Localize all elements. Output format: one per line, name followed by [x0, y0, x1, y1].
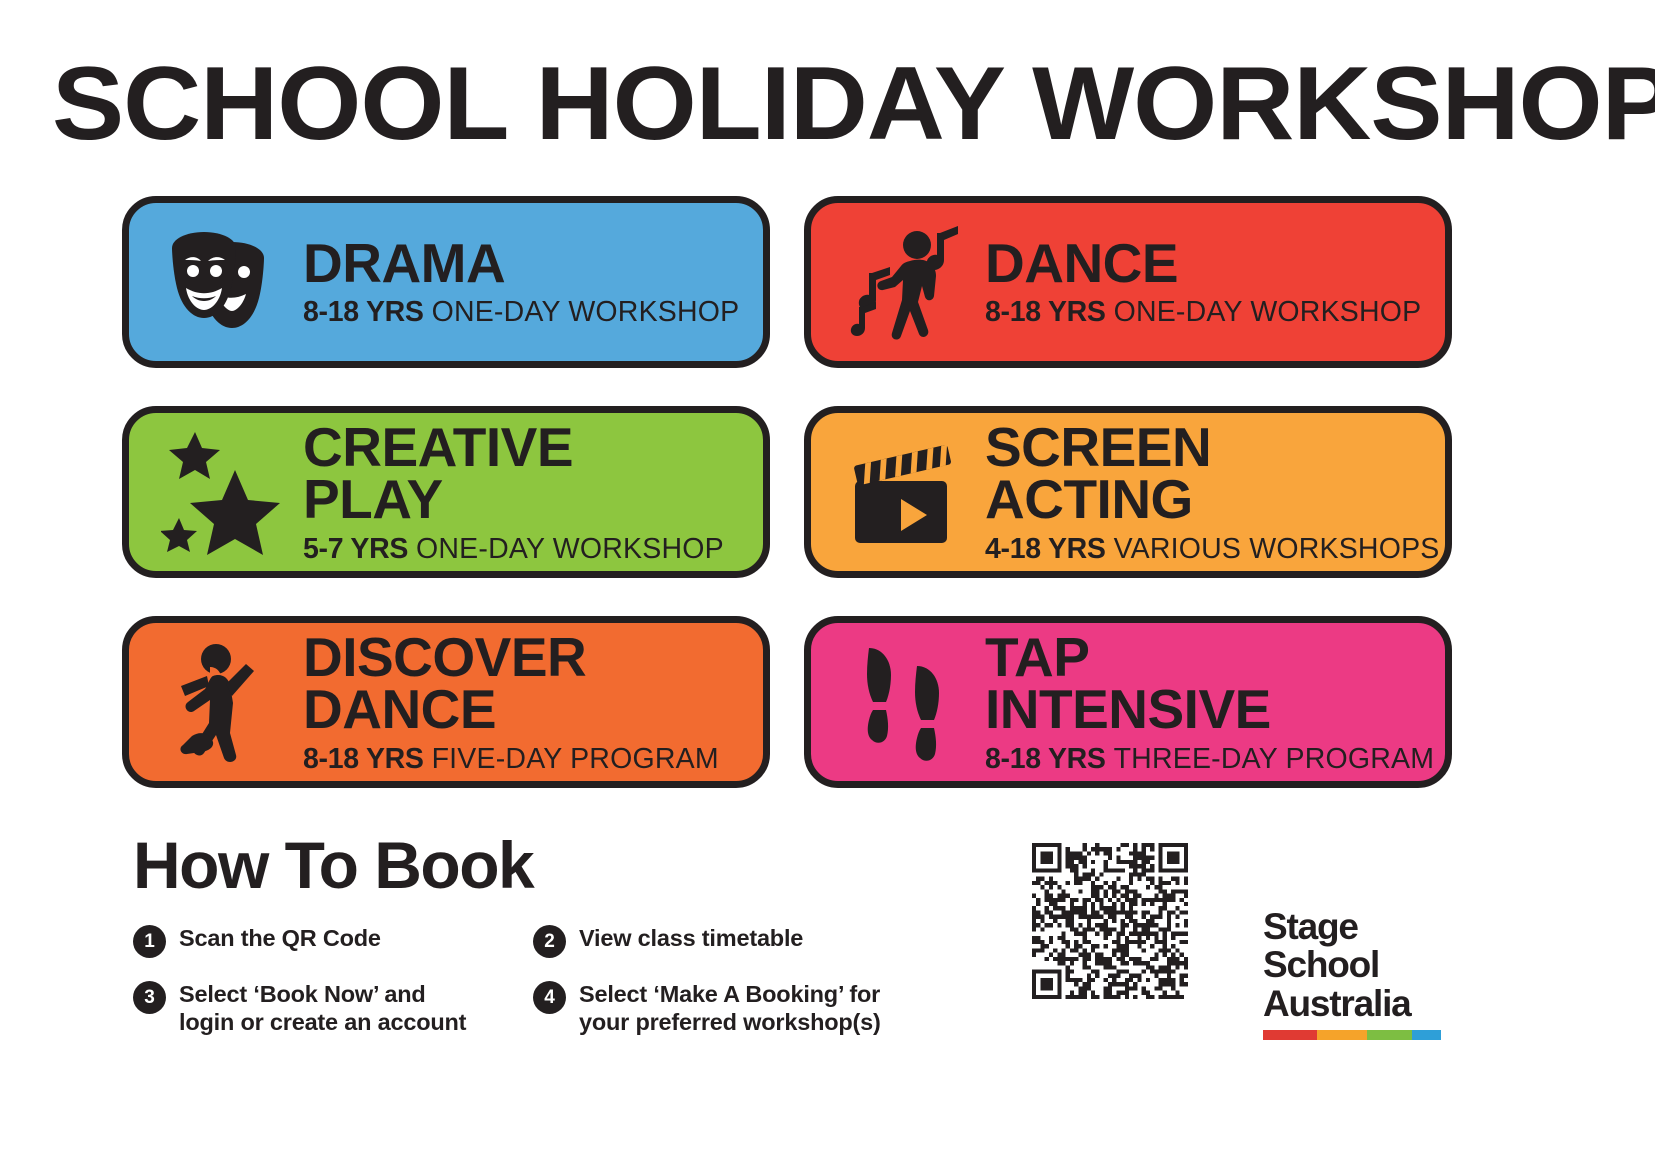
how-to-book-section: How To Book 1 Scan the QR Code 2 View cl…: [133, 832, 963, 1037]
booking-steps-list: 1 Scan the QR Code 2 View class timetabl…: [133, 924, 963, 1037]
step-label: Select ‘Book Now’ and login or create an…: [179, 980, 466, 1037]
stage-school-australia-logo: Stage School Australia: [1263, 908, 1448, 1040]
card-subtitle: 8-18 YRS ONE-DAY WORKSHOP: [303, 298, 753, 327]
step-label: Select ‘Make A Booking’ for your preferr…: [579, 980, 881, 1037]
card-text-creative-play: CREATIVE PLAY 5-7 YRS ONE-DAY WORKSHOP: [297, 421, 763, 563]
booking-step-4: 4 Select ‘Make A Booking’ for your prefe…: [533, 980, 953, 1037]
logo-line-2: School: [1263, 946, 1448, 984]
step-number-badge: 3: [133, 981, 166, 1014]
card-format: ONE-DAY WORKSHOP: [1114, 296, 1422, 328]
card-format: ONE-DAY WORKSHOP: [432, 296, 740, 328]
card-title: DRAMA: [303, 237, 753, 289]
card-age-range: 5-7 YRS: [303, 533, 408, 565]
step-label: View class timetable: [579, 924, 803, 952]
theatre-masks-icon: [147, 212, 297, 352]
step-label: Scan the QR Code: [179, 924, 381, 952]
step-number-badge: 4: [533, 981, 566, 1014]
workshop-card-grid: DRAMA 8-18 YRS ONE-DAY WORKSHOP DANCE: [122, 196, 1452, 788]
logo-line-1: Stage: [1263, 908, 1448, 946]
card-title: DISCOVER DANCE: [303, 631, 753, 736]
step-number-badge: 2: [533, 925, 566, 958]
workshop-card-creative-play[interactable]: CREATIVE PLAY 5-7 YRS ONE-DAY WORKSHOP: [122, 406, 770, 578]
card-subtitle: 5-7 YRS ONE-DAY WORKSHOP: [303, 535, 753, 564]
card-subtitle: 8-18 YRS THREE-DAY PROGRAM: [985, 745, 1435, 774]
card-subtitle: 8-18 YRS ONE-DAY WORKSHOP: [985, 298, 1435, 327]
booking-step-2: 2 View class timetable: [533, 924, 953, 958]
card-subtitle: 4-18 YRS VARIOUS WORKSHOPS: [985, 535, 1440, 564]
card-age-range: 8-18 YRS: [985, 296, 1106, 328]
card-title: SCREEN ACTING: [985, 421, 1440, 526]
card-title: CREATIVE PLAY: [303, 421, 753, 526]
logo-line-3: Australia: [1263, 985, 1448, 1023]
page-title: SCHOOL HOLIDAY WORKSHOPS: [52, 52, 1655, 156]
workshop-card-drama[interactable]: DRAMA 8-18 YRS ONE-DAY WORKSHOP: [122, 196, 770, 368]
dancer-music-notes-icon: [829, 212, 979, 352]
booking-step-1: 1 Scan the QR Code: [133, 924, 533, 958]
qr-code-icon[interactable]: [1032, 843, 1188, 999]
card-text-tap-intensive: TAP INTENSIVE 8-18 YRS THREE-DAY PROGRAM: [979, 631, 1445, 773]
card-title: TAP INTENSIVE: [985, 631, 1435, 736]
clapperboard-play-icon: [829, 422, 979, 562]
card-age-range: 8-18 YRS: [303, 296, 424, 328]
jumping-figure-icon: [147, 632, 297, 772]
tap-shoe-prints-icon: [829, 632, 979, 772]
workshop-card-discover-dance[interactable]: DISCOVER DANCE 8-18 YRS FIVE-DAY PROGRAM: [122, 616, 770, 788]
card-text-discover-dance: DISCOVER DANCE 8-18 YRS FIVE-DAY PROGRAM: [297, 631, 763, 773]
card-text-drama: DRAMA 8-18 YRS ONE-DAY WORKSHOP: [297, 237, 763, 327]
card-format: VARIOUS WORKSHOPS: [1114, 533, 1440, 565]
logo-bar-blue: [1412, 1030, 1441, 1040]
logo-color-bar: [1263, 1030, 1441, 1040]
card-format: FIVE-DAY PROGRAM: [432, 743, 719, 775]
card-text-dance: DANCE 8-18 YRS ONE-DAY WORKSHOP: [979, 237, 1445, 327]
card-age-range: 8-18 YRS: [985, 743, 1106, 775]
card-subtitle: 8-18 YRS FIVE-DAY PROGRAM: [303, 745, 753, 774]
card-title: DANCE: [985, 237, 1435, 289]
how-to-book-heading: How To Book: [133, 832, 963, 898]
booking-step-3: 3 Select ‘Book Now’ and login or create …: [133, 980, 533, 1037]
card-age-range: 4-18 YRS: [985, 533, 1106, 565]
card-format: THREE-DAY PROGRAM: [1114, 743, 1435, 775]
logo-bar-orange: [1317, 1030, 1367, 1040]
logo-bar-green: [1367, 1030, 1412, 1040]
workshop-card-screen-acting[interactable]: SCREEN ACTING 4-18 YRS VARIOUS WORKSHOPS: [804, 406, 1452, 578]
card-text-screen-acting: SCREEN ACTING 4-18 YRS VARIOUS WORKSHOPS: [979, 421, 1450, 563]
workshop-card-dance[interactable]: DANCE 8-18 YRS ONE-DAY WORKSHOP: [804, 196, 1452, 368]
logo-bar-red: [1263, 1030, 1317, 1040]
card-format: ONE-DAY WORKSHOP: [416, 533, 724, 565]
card-age-range: 8-18 YRS: [303, 743, 424, 775]
step-number-badge: 1: [133, 925, 166, 958]
workshop-card-tap-intensive[interactable]: TAP INTENSIVE 8-18 YRS THREE-DAY PROGRAM: [804, 616, 1452, 788]
stars-icon: [147, 422, 297, 562]
